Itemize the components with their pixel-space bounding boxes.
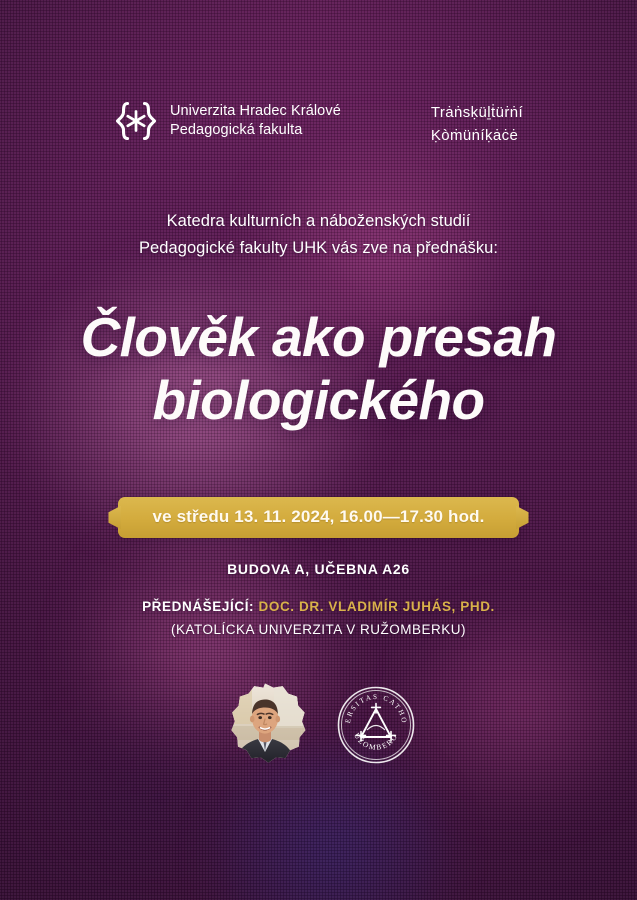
bottom-logo-row: UNIVERSITAS CATHOLICA RUŽOMBEROK xyxy=(0,682,637,768)
lecture-title-line1: Člověk ako presah xyxy=(0,306,637,369)
speaker-name: DOC. DR. VLADIMÍR JUHÁS, PHD. xyxy=(259,599,495,614)
invitation-line2: Pedagogické fakulty UHK vás zve na předn… xyxy=(0,235,637,262)
invitation-text: Katedra kulturních a náboženských studií… xyxy=(0,208,637,261)
date-time-badge: ve středu 13. 11. 2024, 16.00—17.30 hod. xyxy=(118,497,518,538)
poster-header: Univerzita Hradec Králové Pedagogická fa… xyxy=(0,100,637,148)
uhk-logo: Univerzita Hradec Králové Pedagogická fa… xyxy=(114,100,341,142)
speaker-label: PŘEDNÁŠEJÍCÍ: xyxy=(142,599,258,614)
uhk-name-line2: Pedagogická fakulta xyxy=(170,121,341,140)
project-line2: Ḳòṁüṅíḳȧċė xyxy=(431,124,523,147)
catholic-university-seal-icon: UNIVERSITAS CATHOLICA RUŽOMBEROK xyxy=(336,685,416,765)
poster-content: Univerzita Hradec Králové Pedagogická fa… xyxy=(0,0,637,900)
invitation-line1: Katedra kulturních a náboženských studií xyxy=(0,208,637,235)
lecture-title: Člověk ako presah biologického xyxy=(0,306,637,431)
speaker-block: PŘEDNÁŠEJÍCÍ: DOC. DR. VLADIMÍR JUHÁS, P… xyxy=(0,597,637,641)
project-line1: Trȧṅsḳüḻṫüṙṅí xyxy=(431,101,523,124)
speaker-portrait-photo xyxy=(222,682,308,768)
venue-text: BUDOVA A, UČEBNA A26 xyxy=(0,561,637,577)
project-logo-text: Trȧṅsḳüḻṫüṙṅí Ḳòṁüṅíḳȧċė xyxy=(431,100,523,148)
uhk-logo-text: Univerzita Hradec Králové Pedagogická fa… xyxy=(170,102,341,139)
speaker-affiliation: (KATOLÍCKA UNIVERZITA V RUŽOMBERKU) xyxy=(0,620,637,641)
brace-asterisk-logo-icon xyxy=(114,100,158,142)
lecture-title-line2: biologického xyxy=(0,369,637,432)
event-poster: Univerzita Hradec Králové Pedagogická fa… xyxy=(0,0,637,900)
date-badge-container: ve středu 13. 11. 2024, 16.00—17.30 hod. xyxy=(0,497,637,538)
uhk-name-line1: Univerzita Hradec Králové xyxy=(170,102,341,121)
